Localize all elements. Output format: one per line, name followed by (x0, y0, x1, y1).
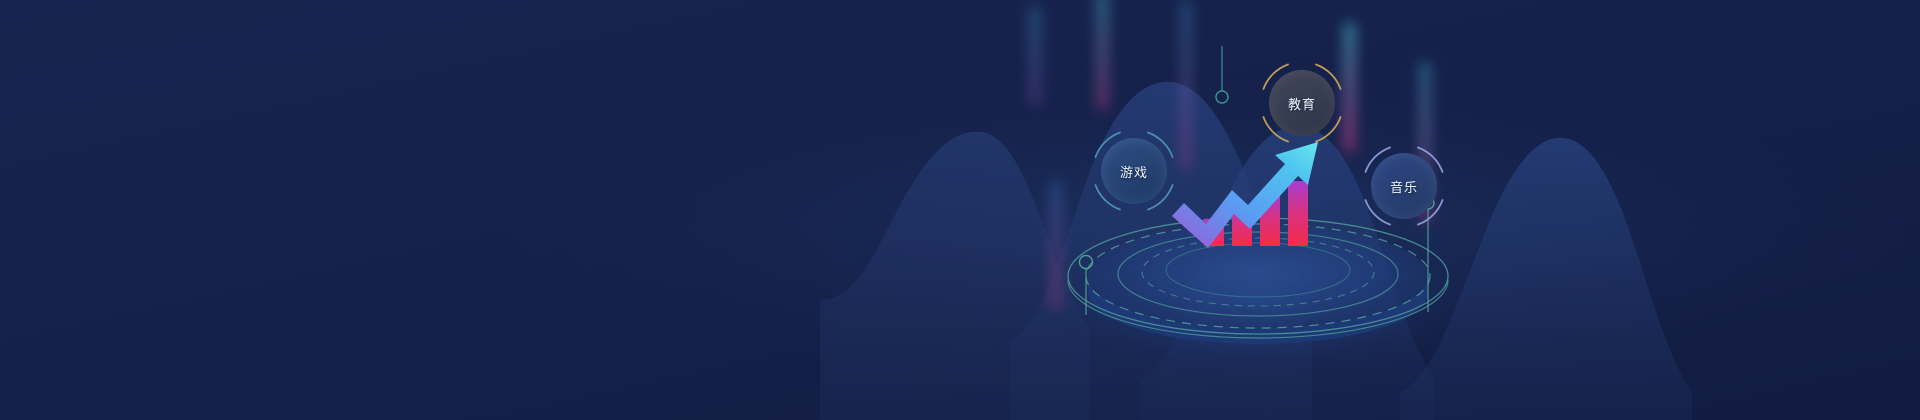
banner-canvas: 游戏教育音乐 (0, 0, 1920, 420)
category-badge-games[interactable]: 游戏 (1088, 125, 1180, 217)
badge-label-games: 游戏 (1101, 138, 1167, 204)
category-badge-music[interactable]: 音乐 (1358, 140, 1450, 232)
category-badge-education[interactable]: 教育 (1256, 57, 1348, 149)
category-badge-layer: 游戏教育音乐 (0, 0, 1920, 420)
badge-label-music: 音乐 (1371, 153, 1437, 219)
badge-label-education: 教育 (1269, 70, 1335, 136)
